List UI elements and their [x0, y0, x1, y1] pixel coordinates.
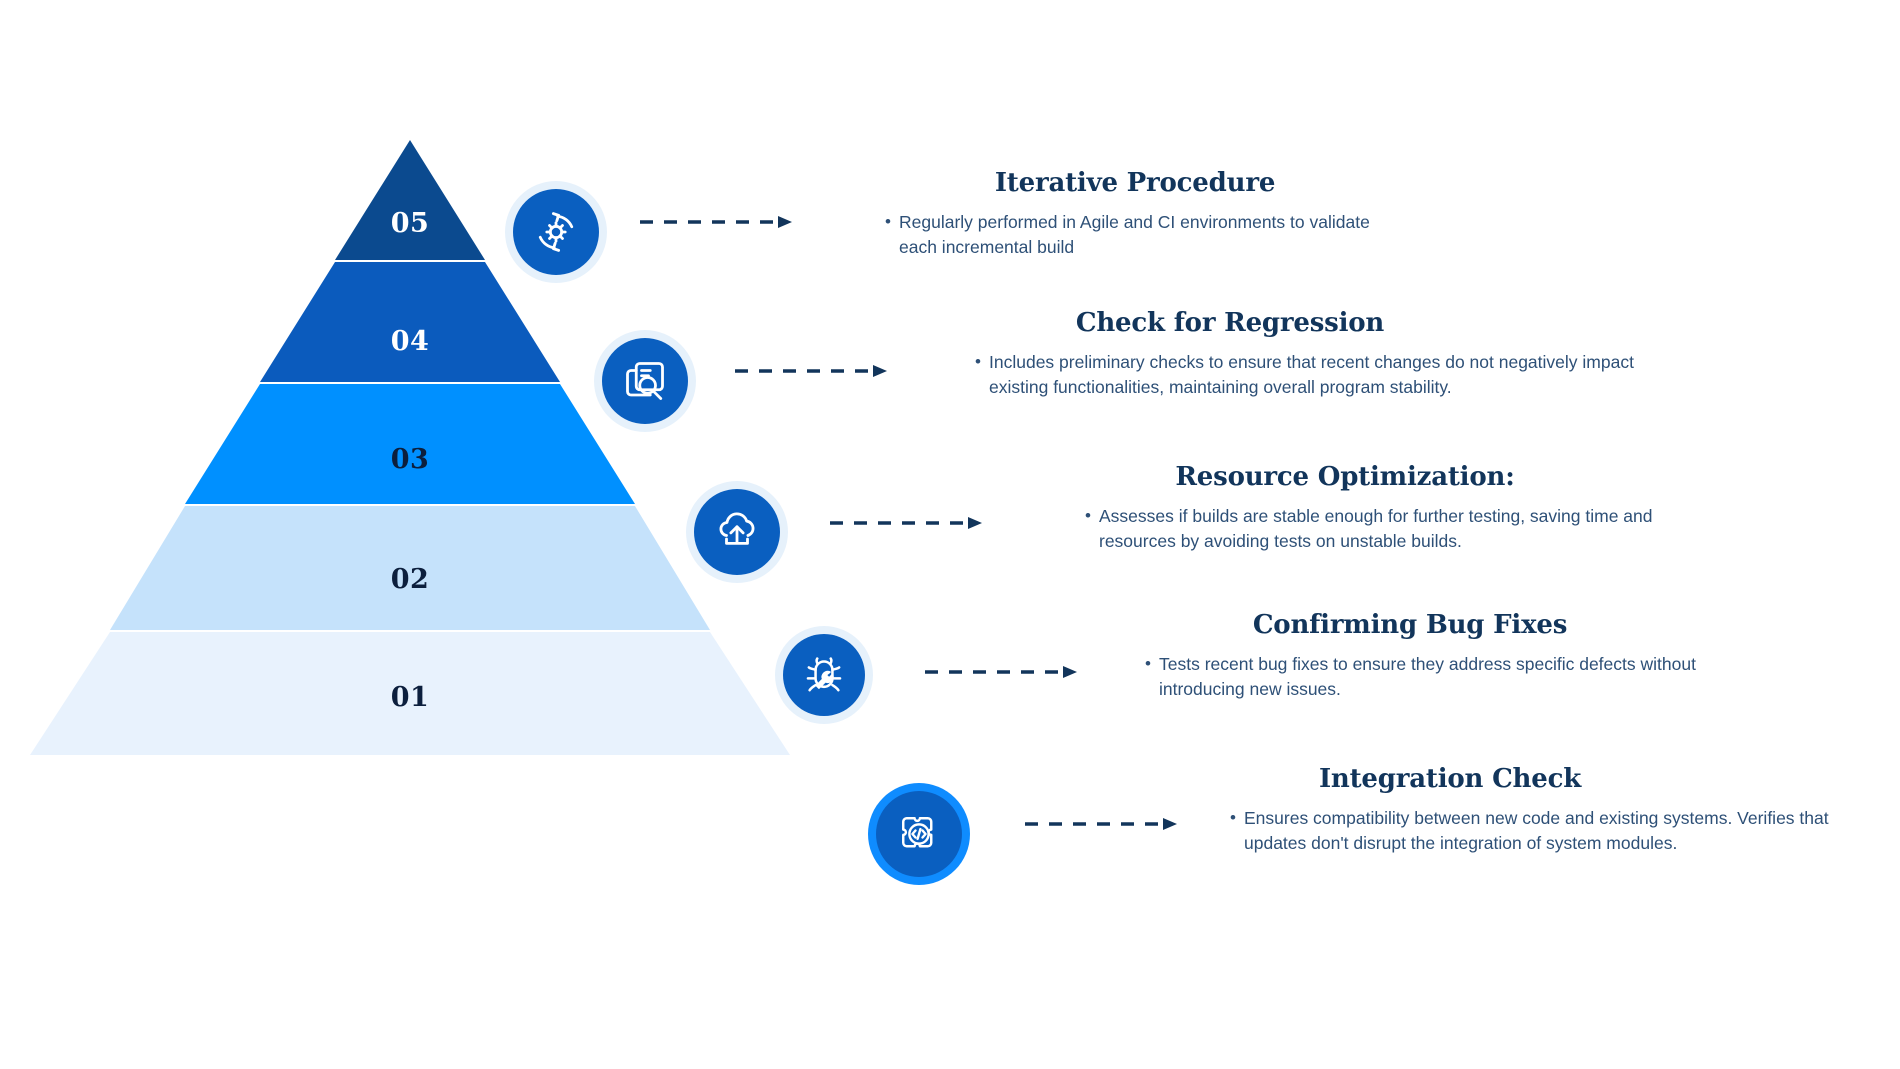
- section-title-confirming-bug-fixes: Confirming Bug Fixes: [1115, 610, 1705, 640]
- section-bullet: • Regularly performed in Agile and CI en…: [855, 210, 1415, 260]
- bullet-text: Assesses if builds are stable enough for…: [1099, 504, 1725, 554]
- section-title-resource-optimization: Resource Optimization:: [1025, 462, 1665, 492]
- section-bullet: • Assesses if builds are stable enough f…: [1025, 504, 1725, 554]
- connector-arrow-iterative-procedure: [640, 215, 800, 237]
- puzzle-code-icon: [876, 791, 962, 877]
- bullet-text: Regularly performed in Agile and CI envi…: [899, 210, 1379, 260]
- cloud-upload-icon: [694, 489, 780, 575]
- infographic-canvas: 05 04 03 02 01: [0, 0, 1900, 1069]
- pyramid-number-03: 03: [350, 444, 470, 475]
- connector-arrow-integration-check: [1025, 817, 1185, 839]
- icon-node-check-for-regression[interactable]: [594, 330, 696, 432]
- pyramid-number-04: 04: [350, 326, 470, 357]
- connector-arrow-resource-optimization: [830, 516, 990, 538]
- section-bullet: • Ensures compatibility between new code…: [1205, 806, 1885, 856]
- section-bullet: • Includes preliminary checks to ensure …: [940, 350, 1670, 400]
- pyramid-number-02: 02: [350, 564, 470, 595]
- pyramid-number-01: 01: [350, 682, 470, 713]
- icon-node-integration-check[interactable]: [868, 783, 970, 885]
- bullet-dot-icon: •: [1230, 806, 1244, 830]
- bug-wrench-icon: [783, 634, 865, 716]
- icon-node-resource-optimization[interactable]: [686, 481, 788, 583]
- section-resource-optimization: Resource Optimization: • Assesses if bui…: [1025, 462, 1725, 554]
- pyramid-band-05: [335, 140, 485, 260]
- bullet-text: Includes preliminary checks to ensure th…: [989, 350, 1670, 400]
- section-title-iterative-procedure: Iterative Procedure: [855, 168, 1415, 198]
- bullet-dot-icon: •: [1085, 504, 1099, 528]
- section-check-for-regression: Check for Regression • Includes prelimin…: [940, 308, 1670, 400]
- bullet-text: Tests recent bug fixes to ensure they ad…: [1159, 652, 1759, 702]
- pyramid-number-05: 05: [350, 208, 470, 239]
- icon-node-confirming-bug-fixes[interactable]: [775, 626, 873, 724]
- section-bullet: • Tests recent bug fixes to ensure they …: [1115, 652, 1815, 702]
- bullet-dot-icon: •: [885, 210, 899, 234]
- pyramid-band-04: [260, 262, 560, 382]
- section-title-integration-check: Integration Check: [1205, 764, 1695, 794]
- document-search-icon: [602, 338, 688, 424]
- bullet-text: Ensures compatibility between new code a…: [1244, 806, 1885, 856]
- section-integration-check: Integration Check • Ensures compatibilit…: [1205, 764, 1885, 856]
- bullet-dot-icon: •: [1145, 652, 1159, 676]
- section-title-check-for-regression: Check for Regression: [940, 308, 1520, 338]
- icon-node-iterative-procedure[interactable]: [505, 181, 607, 283]
- section-confirming-bug-fixes: Confirming Bug Fixes • Tests recent bug …: [1115, 610, 1815, 702]
- gear-refresh-icon: [513, 189, 599, 275]
- connector-arrow-check-for-regression: [735, 364, 895, 386]
- connector-arrow-confirming-bug-fixes: [925, 665, 1085, 687]
- bullet-dot-icon: •: [975, 350, 989, 374]
- section-iterative-procedure: Iterative Procedure • Regularly performe…: [855, 168, 1415, 260]
